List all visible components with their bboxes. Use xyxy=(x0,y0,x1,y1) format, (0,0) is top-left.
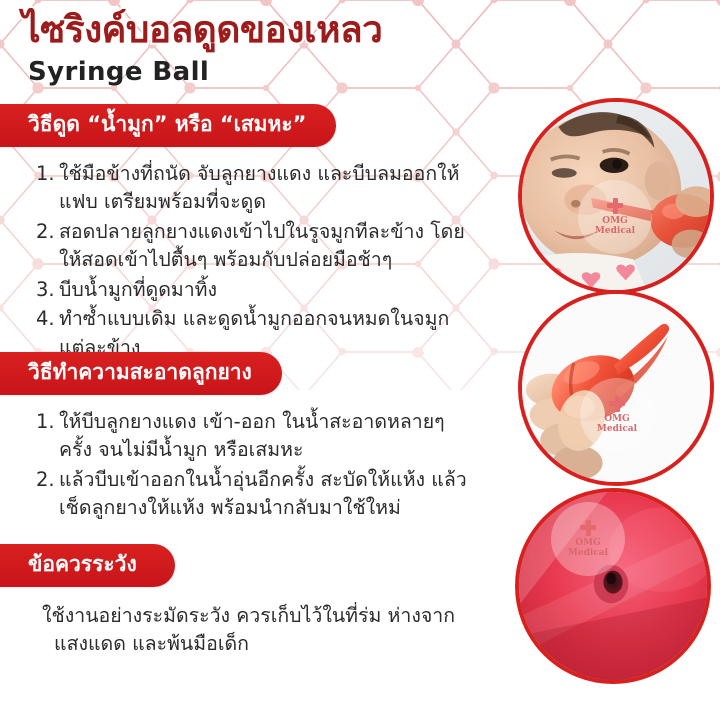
list-item-text: ใช้มือข้างที่ถนัด จับลูกยางแดง และบีบลมอ… xyxy=(59,162,460,213)
hand-holding-bulb-illustration xyxy=(522,294,710,482)
list-item: 1. ใช้มือข้างที่ถนัด จับลูกยางแดง และบีบ… xyxy=(36,160,471,217)
list-item-number: 2. xyxy=(36,466,55,494)
list-item-text: ให้บีบลูกยางแดง เข้า-ออก ในน้ำสะอาดหลายๆ… xyxy=(59,410,445,461)
precautions-text: ใช้งานอย่างระมัดระวัง ควรเก็บไว้ในที่ร่ม… xyxy=(0,602,505,659)
section-heading-cleaning-method: วิธีทำความสะอาดลูกยาง xyxy=(0,352,282,395)
list-item-number: 1. xyxy=(36,408,55,436)
list-item-number: 4. xyxy=(36,305,55,333)
section-precautions: ข้อควรระวัง ใช้งานอย่างระมัดระวัง ควรเก็… xyxy=(0,544,505,659)
page-title-english: Syringe Ball xyxy=(28,57,209,87)
steps-list-cleaning-method: 1. ให้บีบลูกยางแดง เข้า-ออก ในน้ำสะอาดหล… xyxy=(0,408,505,523)
list-item: 1. ให้บีบลูกยางแดง เข้า-ออก ในน้ำสะอาดหล… xyxy=(36,408,471,465)
list-item-number: 1. xyxy=(36,160,55,188)
section-heading-precautions: ข้อควรระวัง xyxy=(0,544,175,587)
list-item-text: สอดปลายลูกยางแดงเข้าไปในรูจมูกทีละข้าง โ… xyxy=(59,220,465,271)
hand-holding-bulb-photo: OMG Medical xyxy=(518,290,714,486)
list-item-text: บีบน้ำมูกที่ดูดมาทิ้ง xyxy=(59,278,217,301)
photo-column: OMG Medical xyxy=(505,0,720,720)
steps-list-suction-method: 1. ใช้มือข้างที่ถนัด จับลูกยางแดง และบีบ… xyxy=(0,160,505,362)
bulb-tip-closeup-illustration xyxy=(519,492,707,680)
list-item: 2. แล้วบีบเข้าออกในน้ำอุ่นอีกครั้ง สะบัด… xyxy=(36,466,471,523)
section-cleaning-method: วิธีทำความสะอาดลูกยาง 1. ให้บีบลูกยางแดง… xyxy=(0,352,505,524)
list-item-number: 2. xyxy=(36,218,55,246)
bulb-tip-closeup-photo: OMG Medical xyxy=(515,488,711,684)
list-item-number: 3. xyxy=(36,276,55,304)
section-heading-suction-method: วิธีดูด “น้ำมูก” หรือ “เสมหะ” xyxy=(0,104,336,147)
baby-nose-suction-illustration xyxy=(522,102,710,290)
content-column: วิธีดูด “น้ำมูก” หรือ “เสมหะ” 1. ใช้มือข… xyxy=(0,96,505,720)
list-item-text: แล้วบีบเข้าออกในน้ำอุ่นอีกครั้ง สะบัดให้… xyxy=(59,468,467,519)
list-item: 2. สอดปลายลูกยางแดงเข้าไปในรูจมูกทีละข้า… xyxy=(36,218,471,275)
baby-nose-suction-photo: OMG Medical xyxy=(518,98,714,294)
infographic-page: ไซริงค์บอลดูดของเหลว Syringe Ball วิธีดู… xyxy=(0,0,720,720)
section-suction-method: วิธีดูด “น้ำมูก” หรือ “เสมหะ” 1. ใช้มือข… xyxy=(0,104,505,363)
list-item: 3. บีบน้ำมูกที่ดูดมาทิ้ง xyxy=(36,276,471,304)
page-title-thai: ไซริงค์บอลดูดของเหลว xyxy=(22,11,382,50)
